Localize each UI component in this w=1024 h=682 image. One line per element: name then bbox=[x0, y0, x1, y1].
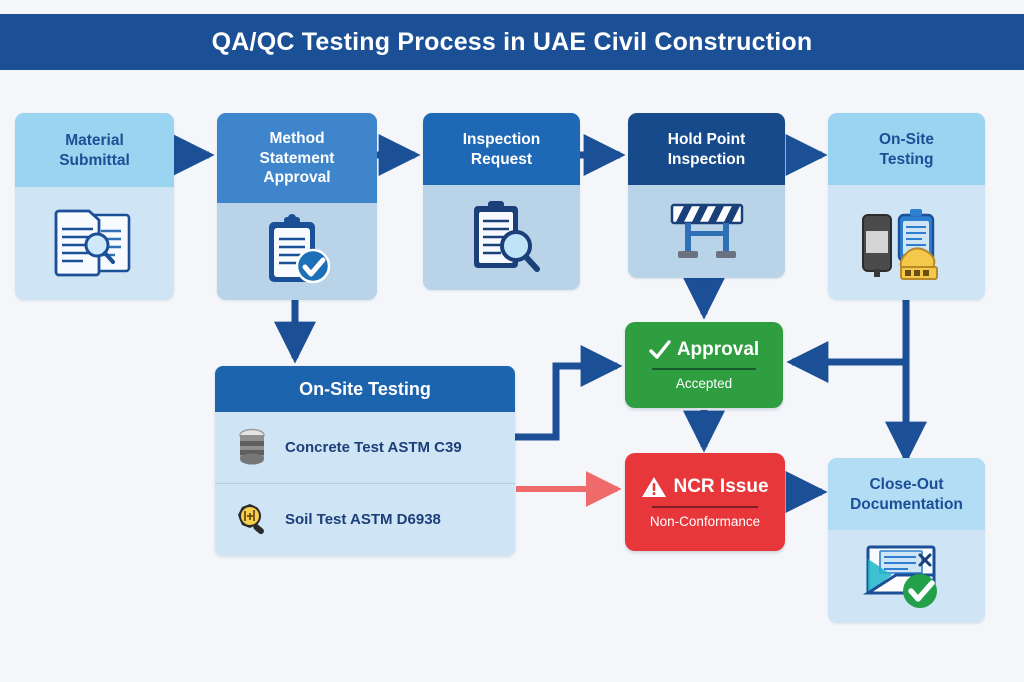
step-header: Hold Point Inspection bbox=[628, 113, 785, 185]
step-label-line1: On-Site bbox=[834, 130, 979, 149]
step-header: Close-Out Documentation bbox=[828, 458, 985, 530]
decision-approval[interactable]: Approval Accepted bbox=[625, 322, 783, 408]
table-cell-label: Concrete Test ASTM C39 bbox=[285, 439, 462, 456]
step-label-line3: Approval bbox=[223, 168, 371, 187]
step-label-line2: Request bbox=[429, 150, 574, 169]
table-header: On-Site Testing bbox=[215, 366, 515, 412]
step-label-line1: Method bbox=[223, 129, 371, 148]
process-step-material-submittal[interactable]: Material Submittal bbox=[15, 113, 174, 300]
process-step-close-out-documentation[interactable]: Close-Out Documentation bbox=[828, 458, 985, 623]
step-header: On-Site Testing bbox=[828, 113, 985, 185]
step-body bbox=[828, 185, 985, 300]
divider bbox=[652, 368, 756, 370]
decision-ncr-issue[interactable]: NCR Issue Non-Conformance bbox=[625, 453, 785, 551]
test-equipment-icon bbox=[857, 201, 957, 285]
on-site-testing-table[interactable]: On-Site Testing Concrete Test ASTM C39 bbox=[215, 366, 515, 556]
process-step-method-statement-approval[interactable]: Method Statement Approval bbox=[217, 113, 377, 300]
documents-magnifier-icon bbox=[49, 201, 141, 287]
step-label-line2: Inspection bbox=[634, 150, 779, 169]
divider bbox=[652, 506, 758, 508]
step-label-line1: Hold Point bbox=[634, 130, 779, 149]
step-label-line2: Testing bbox=[834, 150, 979, 169]
page-title: QA/QC Testing Process in UAE Civil Const… bbox=[212, 28, 813, 57]
table-cell-label: Soil Test ASTM D6938 bbox=[285, 511, 441, 528]
table-row[interactable]: Concrete Test ASTM C39 bbox=[215, 412, 515, 483]
step-body bbox=[828, 530, 985, 623]
step-label-line1: Material bbox=[21, 131, 168, 150]
soil-gauge-icon bbox=[231, 498, 273, 540]
diagram-title-bar: QA/QC Testing Process in UAE Civil Const… bbox=[0, 14, 1024, 70]
road-barrier-icon bbox=[664, 201, 750, 263]
decision-title: NCR Issue bbox=[673, 476, 768, 498]
table-row[interactable]: Soil Test ASTM D6938 bbox=[215, 483, 515, 554]
concrete-cylinder-icon bbox=[231, 427, 273, 469]
step-body bbox=[15, 187, 174, 300]
step-label-line1: Close-Out bbox=[834, 475, 979, 494]
step-label-line2: Statement bbox=[223, 149, 371, 168]
step-body bbox=[217, 203, 377, 300]
decision-title-row: Approval bbox=[639, 339, 769, 361]
step-label-line2: Submittal bbox=[21, 151, 168, 170]
step-label-line1: Inspection bbox=[429, 130, 574, 149]
check-mark-icon bbox=[649, 340, 671, 360]
step-header: Inspection Request bbox=[423, 113, 580, 185]
process-step-hold-point-inspection[interactable]: Hold Point Inspection bbox=[628, 113, 785, 278]
decision-subtitle: Accepted bbox=[676, 376, 732, 391]
process-step-on-site-testing[interactable]: On-Site Testing bbox=[828, 113, 985, 300]
clipboard-check-icon bbox=[257, 212, 337, 292]
document-approved-icon bbox=[858, 539, 956, 615]
process-step-inspection-request[interactable]: Inspection Request bbox=[423, 113, 580, 290]
decision-subtitle: Non-Conformance bbox=[650, 514, 760, 529]
step-header: Material Submittal bbox=[15, 113, 174, 187]
step-header: Method Statement Approval bbox=[217, 113, 377, 203]
step-body bbox=[628, 185, 785, 278]
clipboard-magnifier-icon bbox=[460, 196, 544, 280]
step-label-line2: Documentation bbox=[834, 495, 979, 514]
decision-title-row: NCR Issue bbox=[631, 475, 778, 499]
step-body bbox=[423, 185, 580, 290]
arrow-concrete-to-approval bbox=[515, 366, 617, 437]
diagram-canvas: QA/QC Testing Process in UAE Civil Const… bbox=[0, 0, 1024, 682]
decision-title: Approval bbox=[677, 339, 759, 361]
warning-triangle-icon bbox=[641, 475, 667, 499]
